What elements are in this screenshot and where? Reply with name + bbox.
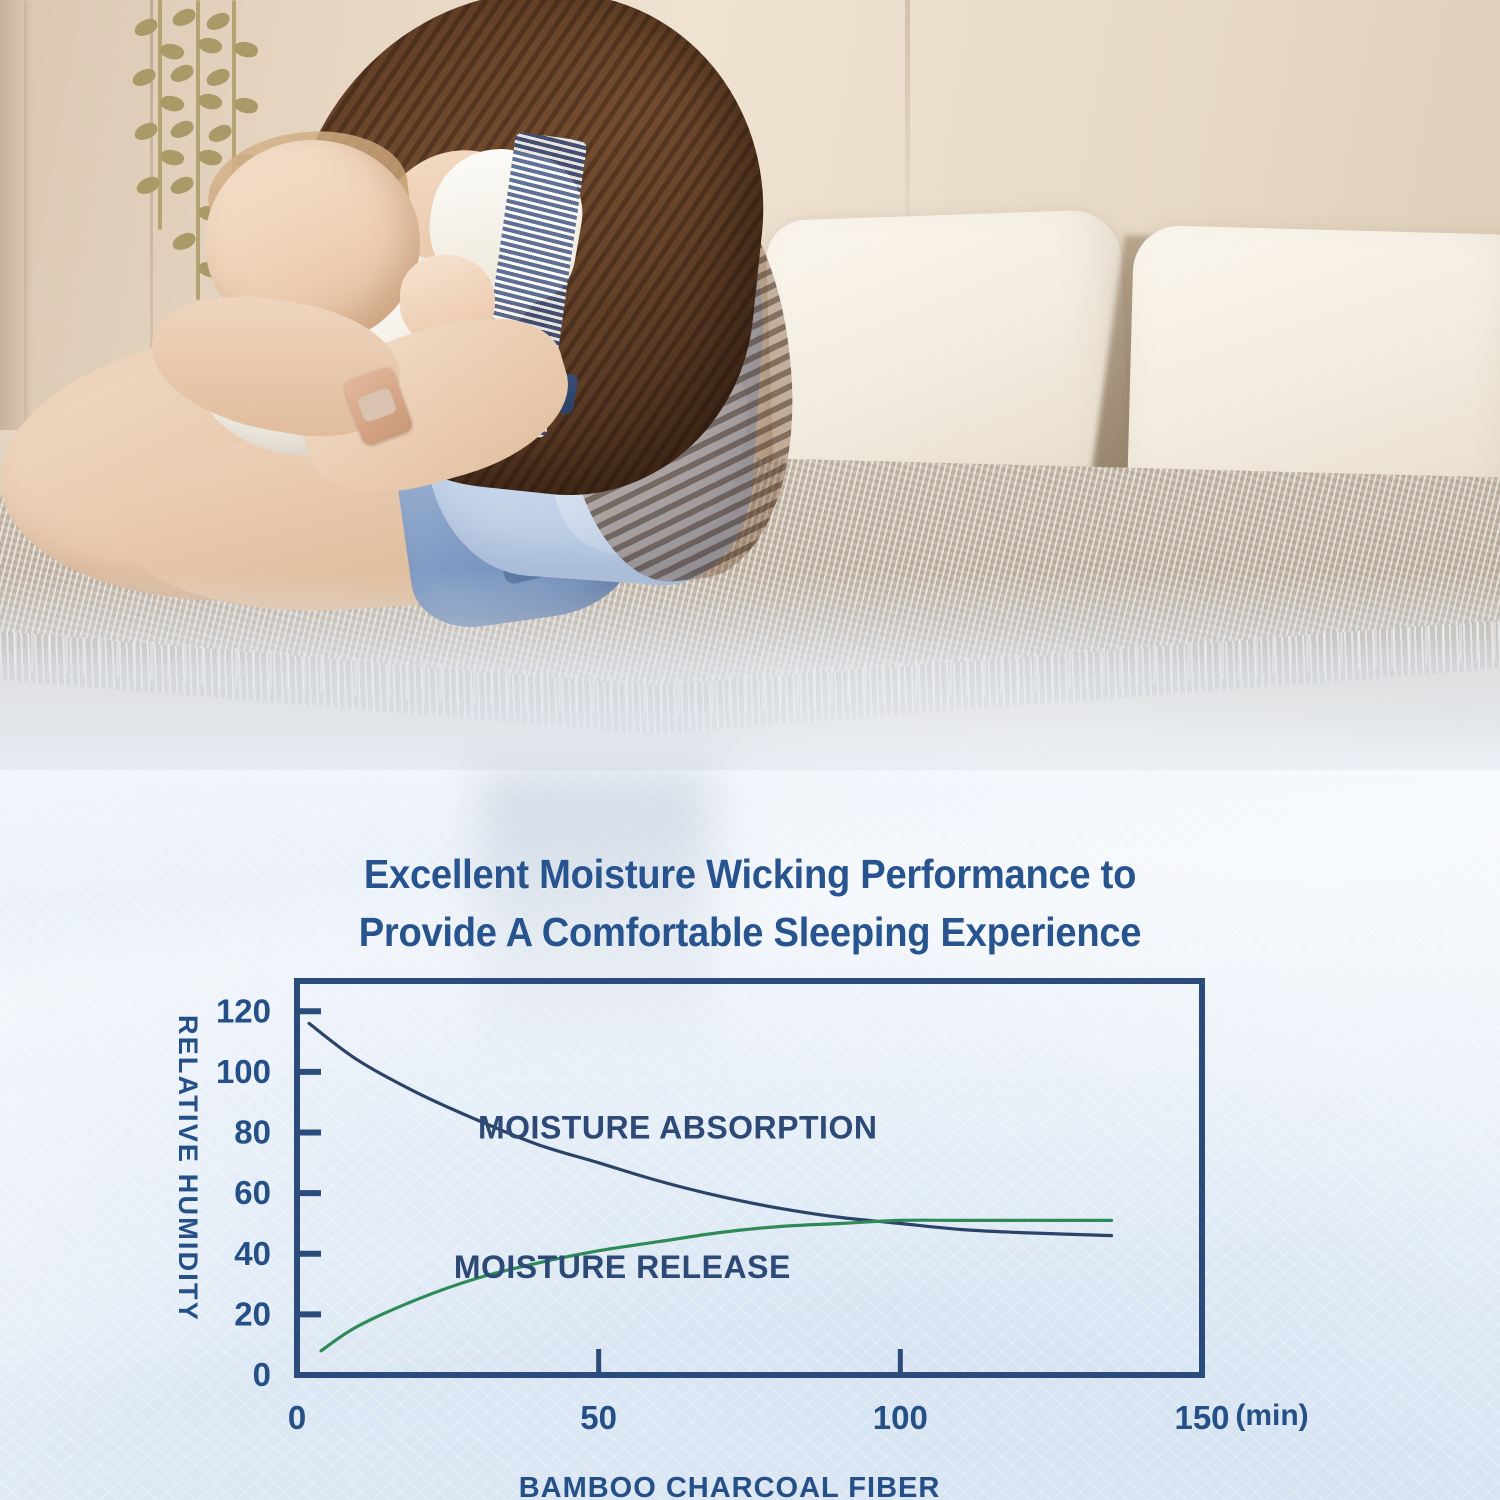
- y-tick-label: 0: [253, 1356, 271, 1393]
- vine-stem-1: [158, 0, 162, 230]
- x-tick-label: 150: [1174, 1399, 1229, 1436]
- y-tick-label: 100: [216, 1053, 271, 1090]
- wall-panel-left: [0, 0, 24, 470]
- y-tick-label: 120: [216, 992, 271, 1029]
- wall-seam-right: [905, 0, 910, 240]
- lifestyle-photo: [0, 0, 1500, 800]
- x-axis-unit: (min): [1235, 1399, 1308, 1432]
- chart-frame: [297, 981, 1202, 1375]
- y-tick-label: 60: [234, 1174, 271, 1211]
- x-axis-title: BAMBOO CHARCOAL FIBER: [519, 1472, 941, 1500]
- y-tick-label: 40: [234, 1235, 271, 1272]
- y-tick-label: 80: [234, 1114, 271, 1151]
- x-tick-label: 100: [873, 1399, 928, 1436]
- series-label-release: MOISTURE RELEASE: [454, 1249, 791, 1285]
- series-line-release: [321, 1220, 1111, 1351]
- product-infographic: Excellent Moisture Wicking Performance t…: [0, 0, 1500, 1500]
- x-tick-label: 50: [580, 1399, 617, 1436]
- series-label-absorption: MOISTURE ABSORPTION: [478, 1110, 877, 1146]
- y-tick-label: 20: [234, 1295, 271, 1332]
- humidity-chart: 020406080100120050100150(min)BAMBOO CHAR…: [0, 770, 1500, 1500]
- x-tick-label: 0: [288, 1399, 306, 1436]
- chart-svg: 020406080100120050100150(min)BAMBOO CHAR…: [0, 770, 1500, 1500]
- photo-bottom-fade: [0, 570, 1500, 800]
- y-axis-title: RELATIVE HUMIDITY: [172, 1015, 203, 1322]
